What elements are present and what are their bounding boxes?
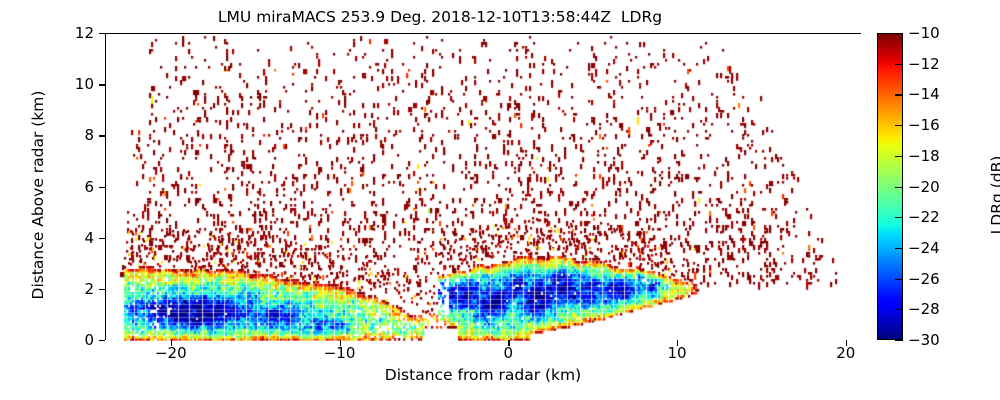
x-tick-label: 20 xyxy=(816,344,876,362)
x-tick-label: 10 xyxy=(647,344,707,362)
x-tick-mark xyxy=(677,340,678,346)
colorbar-tick-mark xyxy=(895,217,903,218)
colorbar-tick-mark xyxy=(895,156,903,157)
x-axis-label: Distance from radar (km) xyxy=(105,366,861,384)
y-tick-mark xyxy=(99,340,105,341)
y-tick-mark xyxy=(99,187,105,188)
colorbar-tick-mark xyxy=(895,94,903,95)
colorbar-tick-mark xyxy=(895,309,903,310)
x-tick-mark xyxy=(508,340,509,346)
colorbar-tick-label: −10 xyxy=(908,24,940,42)
radar-data-heatmap xyxy=(106,34,862,341)
x-tick-label: 0 xyxy=(478,344,538,362)
x-tick-label: −10 xyxy=(310,344,370,362)
colorbar-tick-label: −30 xyxy=(908,331,940,349)
colorbar-label: LDRg (dB) xyxy=(988,70,1000,320)
y-tick-label: 10 xyxy=(54,75,94,93)
colorbar-tick-label: −24 xyxy=(908,239,940,257)
colorbar-tick-mark xyxy=(895,64,903,65)
colorbar-tick-mark xyxy=(895,125,903,126)
y-tick-label: 6 xyxy=(54,178,94,196)
y-tick-mark xyxy=(99,84,105,85)
page-title: LMU miraMACS 253.9 Deg. 2018-12-10T13:58… xyxy=(0,8,880,26)
colorbar-tick-label: −16 xyxy=(908,116,940,134)
y-tick-label: 2 xyxy=(54,280,94,298)
colorbar-tick-mark xyxy=(895,340,903,341)
colorbar-tick-mark xyxy=(895,187,903,188)
x-tick-mark xyxy=(171,340,172,346)
colorbar-tick-label: −14 xyxy=(908,85,940,103)
y-tick-mark xyxy=(99,289,105,290)
y-tick-label: 4 xyxy=(54,229,94,247)
colorbar-tick-label: −28 xyxy=(908,300,940,318)
colorbar-tick-label: −18 xyxy=(908,147,940,165)
colorbar-tick-label: −12 xyxy=(908,55,940,73)
x-tick-mark xyxy=(846,340,847,346)
y-tick-mark xyxy=(99,135,105,136)
colorbar-tick-mark xyxy=(895,279,903,280)
y-axis-label: Distance Above radar (km) xyxy=(29,65,47,325)
colorbar-tick-label: −26 xyxy=(908,270,940,288)
y-tick-label: 0 xyxy=(54,331,94,349)
x-tick-mark xyxy=(340,340,341,346)
y-tick-label: 8 xyxy=(54,126,94,144)
x-tick-label: −20 xyxy=(141,344,201,362)
colorbar-tick-label: −20 xyxy=(908,178,940,196)
y-tick-label: 12 xyxy=(54,24,94,42)
colorbar-tick-label: −22 xyxy=(908,208,940,226)
colorbar-tick-mark xyxy=(895,33,903,34)
colorbar-tick-mark xyxy=(895,248,903,249)
y-tick-mark xyxy=(99,33,105,34)
plot-axes-area xyxy=(105,33,861,340)
y-tick-mark xyxy=(99,238,105,239)
radar-rhi-figure: LMU miraMACS 253.9 Deg. 2018-12-10T13:58… xyxy=(0,0,1000,400)
